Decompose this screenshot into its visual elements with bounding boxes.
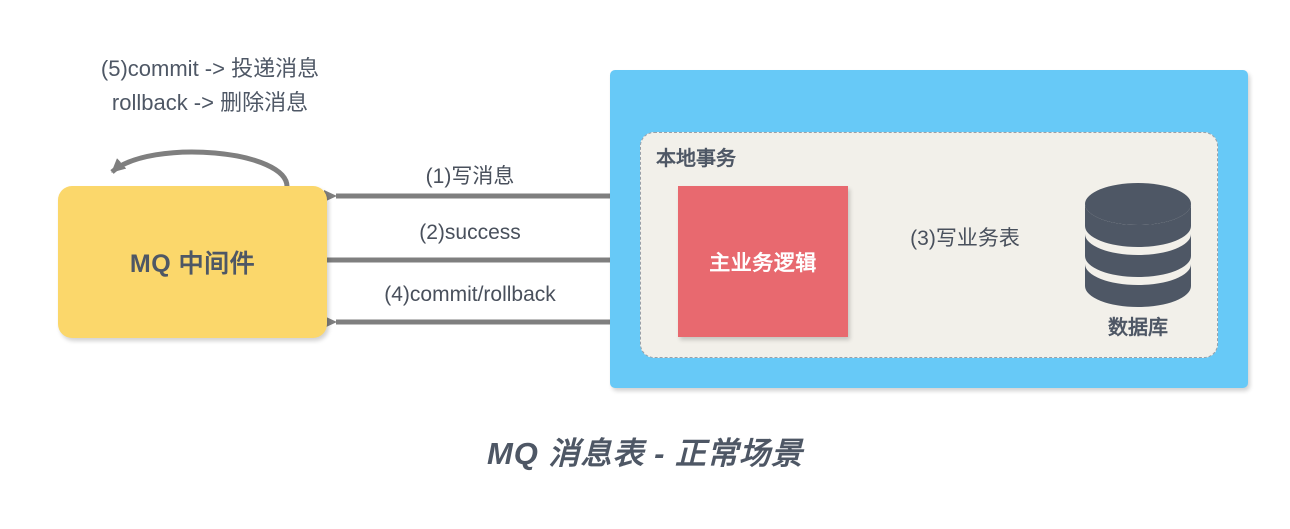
node-local-transaction-label: 本地事务	[656, 142, 736, 171]
edge-3-label: (3)写业务表	[845, 222, 1085, 252]
loop-annotation-line-1: (5)commit -> 投递消息	[60, 52, 360, 86]
node-mq-middleware[interactable]: MQ 中间件	[58, 186, 327, 338]
node-business-logic-label: 主业务逻辑	[709, 247, 817, 277]
edge-5-loop-arrow	[112, 152, 287, 188]
database-icon	[1083, 182, 1193, 312]
edge-2-label: (2)success	[345, 221, 595, 245]
node-database-label: 数据库	[1070, 311, 1206, 340]
edge-1-label: (1)写消息	[345, 160, 595, 190]
loop-annotation: (5)commit -> 投递消息 rollback -> 删除消息	[60, 52, 360, 120]
loop-annotation-line-2: rollback -> 删除消息	[60, 86, 360, 120]
edge-4-label: (4)commit/rollback	[335, 283, 605, 307]
node-mq-middleware-label: MQ 中间件	[130, 244, 255, 280]
node-business-logic[interactable]: 主业务逻辑	[678, 186, 848, 337]
diagram-caption: MQ 消息表 - 正常场景	[0, 428, 1290, 473]
